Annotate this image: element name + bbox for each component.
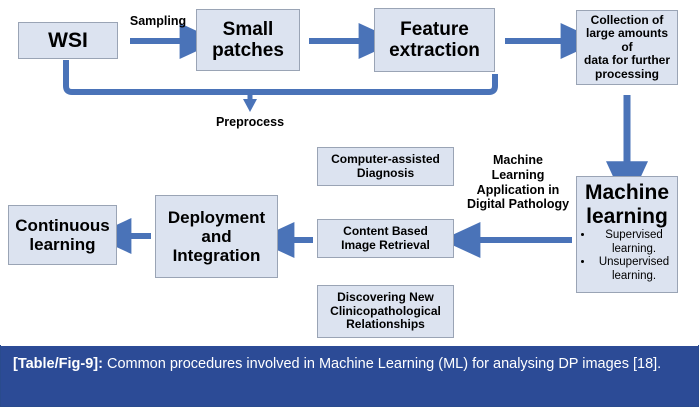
node-content-based-image-retrieval[interactable]: Content Based Image Retrieval: [317, 219, 454, 258]
node-small-patches[interactable]: Small patches: [196, 9, 300, 71]
node-small-patches-label: Small patches: [212, 19, 284, 62]
node-continuous-learning[interactable]: Continuous learning: [8, 205, 117, 265]
figure-container: WSI Small patches Feature extraction Col…: [0, 0, 699, 407]
node-feature-extraction-label: Feature extraction: [389, 19, 480, 62]
node-machine-learning-bullets: Supervised learning. Unsupervised learni…: [580, 229, 674, 283]
node-deployment-and-integration[interactable]: Deployment and Integration: [155, 195, 278, 278]
node-computer-assisted-diagnosis-label: Computer-assisted Diagnosis: [331, 153, 440, 180]
label-ml-application: Machine Learning Application in Digital …: [462, 153, 574, 212]
node-collection[interactable]: Collection of large amounts of data for …: [576, 10, 678, 85]
figure-caption: [Table/Fig-9]: Common procedures involve…: [1, 346, 698, 406]
node-wsi-label: WSI: [48, 29, 88, 53]
bullet-supervised: Supervised learning.: [594, 229, 674, 256]
node-deployment-and-integration-label: Deployment and Integration: [168, 208, 265, 265]
node-wsi[interactable]: WSI: [18, 22, 118, 59]
caption-tag: [Table/Fig-9]:: [13, 356, 103, 372]
caption-text: Common procedures involved in Machine Le…: [103, 356, 661, 372]
node-computer-assisted-diagnosis[interactable]: Computer-assisted Diagnosis: [317, 147, 454, 186]
label-sampling: Sampling: [126, 14, 190, 29]
label-preprocess: Preprocess: [208, 115, 292, 130]
node-collection-label: Collection of large amounts of data for …: [580, 14, 674, 81]
flowchart-diagram: WSI Small patches Feature extraction Col…: [0, 0, 699, 345]
node-machine-learning-title: Machine learning: [585, 181, 669, 228]
node-discovering-relationships-label: Discovering New Clinicopathological Rela…: [330, 291, 441, 331]
bullet-unsupervised: Unsupervised learning.: [594, 256, 674, 283]
node-feature-extraction[interactable]: Feature extraction: [374, 8, 495, 72]
node-discovering-relationships[interactable]: Discovering New Clinicopathological Rela…: [317, 285, 454, 338]
node-content-based-image-retrieval-label: Content Based Image Retrieval: [341, 225, 430, 252]
node-machine-learning[interactable]: Machine learning Supervised learning. Un…: [576, 176, 678, 293]
node-continuous-learning-label: Continuous learning: [15, 216, 109, 254]
